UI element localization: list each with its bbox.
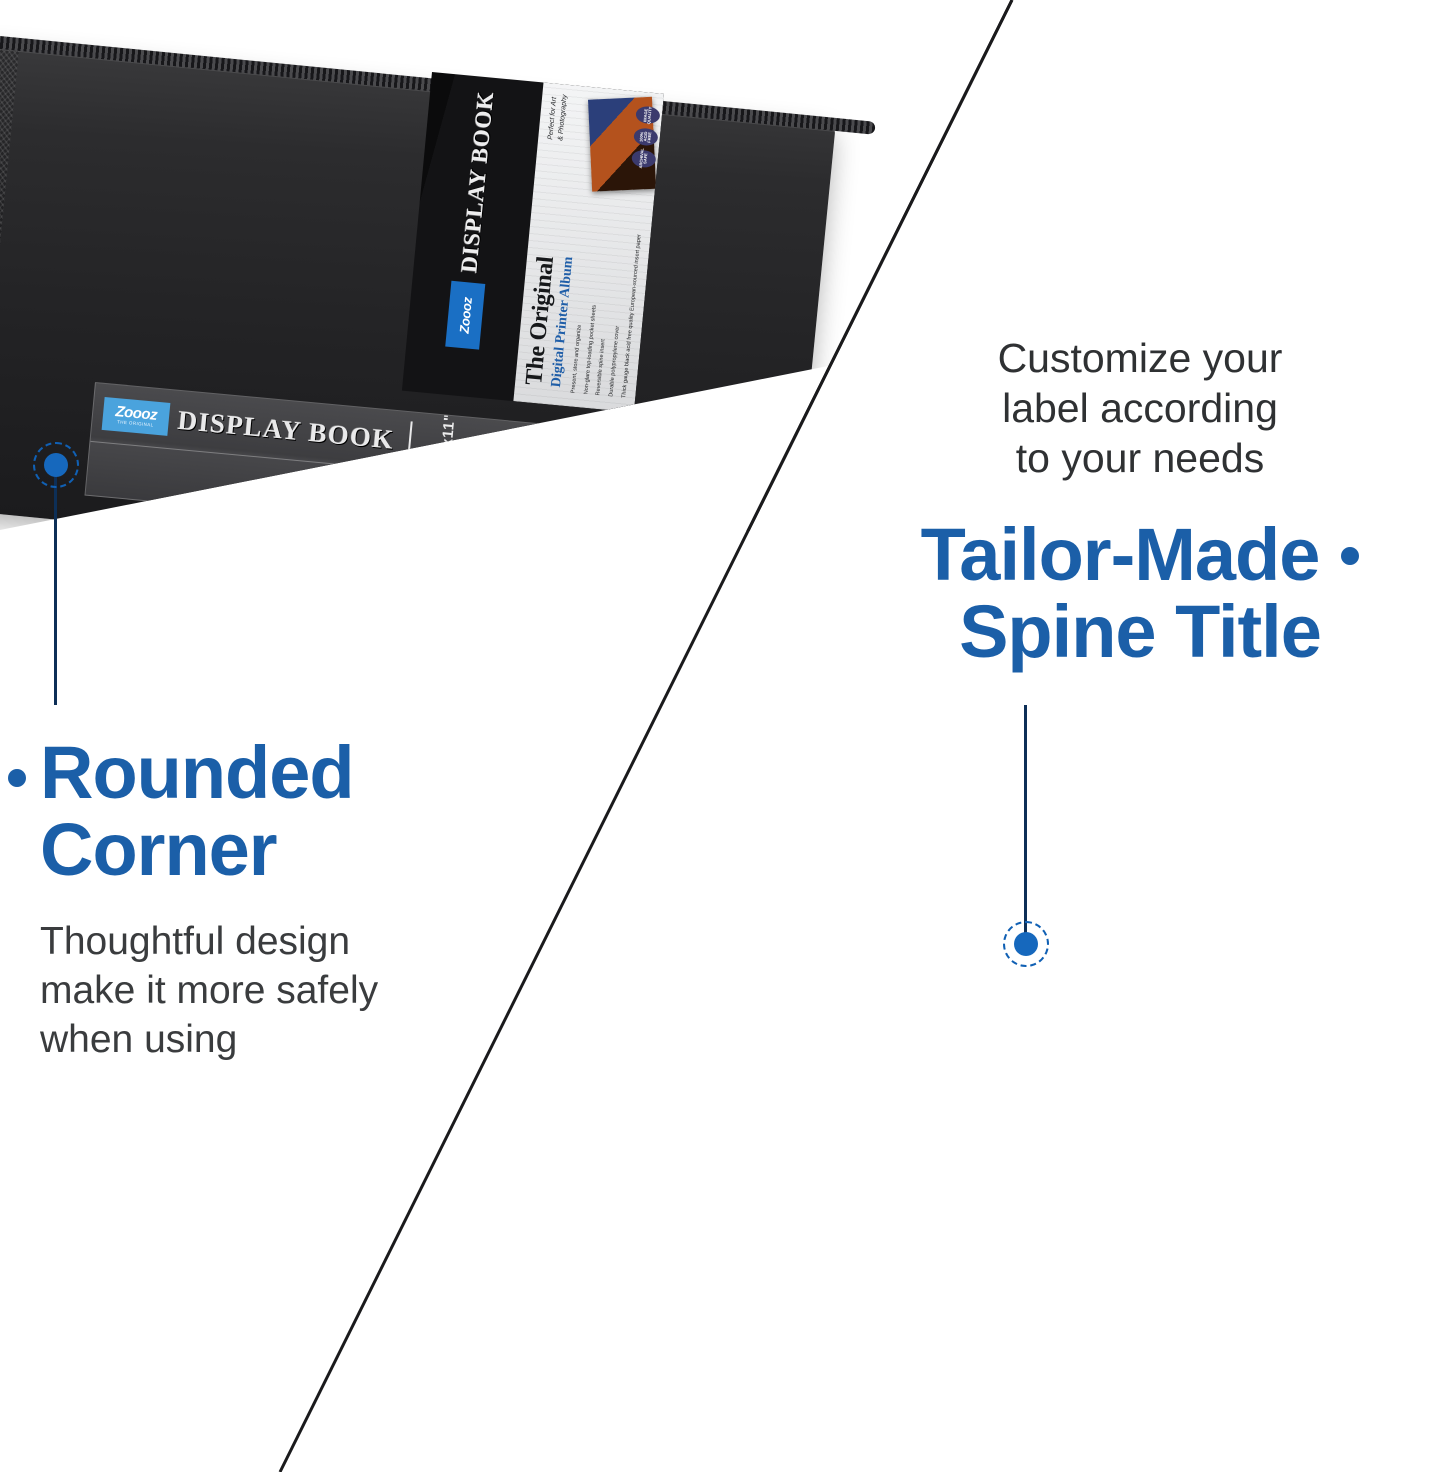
package-badge-group: IMAGE QUALITY 100% ACID FREE ARCHIVAL SA… <box>631 105 661 168</box>
callout-marker-rounded-corner <box>33 442 79 488</box>
badge-acid-free: 100% ACID FREE <box>633 127 658 146</box>
spine-label-divider-rule <box>407 421 413 461</box>
package-spine-title: DISPLAY BOOK <box>456 90 499 274</box>
callout-dot-icon <box>44 453 68 477</box>
right-headline-line2: Spine Title <box>860 594 1420 671</box>
product-feature-image: DISPLAY BOOK Zoooz Perfect for Art & Pho… <box>0 0 1445 1472</box>
bullet-dot-icon <box>8 769 26 787</box>
leader-line-spine-title <box>1024 705 1027 940</box>
spine-label-title-secondary: DISPLAY BOOK <box>273 474 446 515</box>
package-bullet-list: Present, store and organize Non-glare to… <box>570 229 643 398</box>
left-subtext-line1: Thoughtful design <box>40 917 548 966</box>
badge-label: IMAGE QUALITY <box>643 106 653 124</box>
left-headline-line1: Rounded <box>40 735 354 812</box>
retail-package-insert: DISPLAY BOOK Zoooz Perfect for Art & Pho… <box>402 72 664 413</box>
callout-marker-spine-title <box>1003 921 1049 967</box>
right-kicker-line2: label according <box>860 383 1420 433</box>
callout-text-right: Customize your label according to your n… <box>860 333 1420 671</box>
left-headline-line2: Corner <box>40 812 548 889</box>
left-subtext-line2: make it more safely <box>40 966 548 1015</box>
brand-logo-subtext: THE ORIGINAL <box>117 420 154 428</box>
spine-label-size: 8.5"x11" <box>436 413 459 478</box>
right-kicker-line1: Customize your <box>860 333 1420 383</box>
callout-text-left: Rounded Corner Thoughtful design make it… <box>8 735 548 1064</box>
left-headline: Rounded Corner <box>8 735 548 889</box>
package-tagline: Perfect for Art & Photography <box>546 93 571 141</box>
right-kicker-line3: to your needs <box>860 433 1420 483</box>
brand-logo-spine: Zoooz THE ORIGINAL <box>102 396 171 435</box>
leader-line-rounded-corner <box>54 470 57 705</box>
left-subtext-line3: when using <box>40 1015 548 1064</box>
callout-dot-icon <box>1014 932 1038 956</box>
brand-logo-package-text: Zoooz <box>456 297 474 335</box>
right-headline: Tailor-Made Spine Title <box>860 517 1420 671</box>
brand-logo-package: Zoooz <box>445 281 485 350</box>
spine-label-title: DISPLAY BOOK <box>176 404 395 455</box>
right-kicker: Customize your label according to your n… <box>860 333 1420 483</box>
badge-archival-safe: ARCHIVAL SAFE <box>631 149 656 168</box>
badge-label: 100% ACID FREE <box>639 128 653 146</box>
right-headline-line1: Tailor-Made <box>921 517 1320 594</box>
badge-label: ARCHIVAL SAFE <box>639 148 649 169</box>
top-left-product-photo: DISPLAY BOOK Zoooz Perfect for Art & Pho… <box>0 0 1010 530</box>
badge-image-quality: IMAGE QUALITY <box>635 105 660 124</box>
left-subtext: Thoughtful design make it more safely wh… <box>40 917 548 1064</box>
bullet-dot-icon <box>1341 547 1359 565</box>
